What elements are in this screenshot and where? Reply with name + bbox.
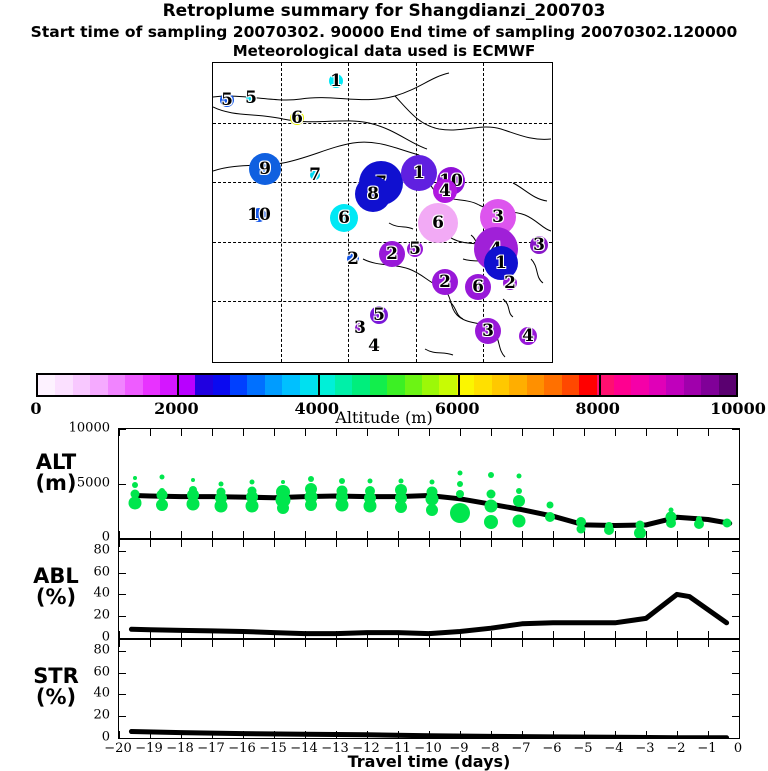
y-axis-tick-right (732, 716, 739, 717)
x-axis-tick-top (398, 640, 399, 647)
colorbar-segment (282, 375, 299, 395)
colorbar-divider (458, 375, 460, 395)
alt-scatter-bubble (308, 476, 314, 482)
coastline (395, 96, 551, 139)
alt-plot-panel[interactable] (118, 428, 740, 539)
x-axis-tick-top (708, 429, 709, 436)
alt-scatter-bubble (485, 500, 498, 513)
y-axis-tick-right (732, 694, 739, 695)
x-axis-tick-top (615, 640, 616, 647)
alt-scatter-bubble (457, 481, 463, 487)
x-axis-tick (119, 531, 120, 538)
y-axis-tick-label: 20 (93, 608, 110, 623)
colorbar-segment (230, 375, 247, 395)
y-axis-tick-right (732, 616, 739, 617)
altitude-marker-blob (418, 203, 458, 243)
x-axis-tick-top (367, 429, 368, 436)
x-axis-tick-top (305, 640, 306, 647)
altitude-marker-blob (330, 204, 358, 232)
map-gridline-vertical (416, 63, 417, 362)
alt-scatter-bubble (364, 499, 377, 512)
x-axis-tick (491, 631, 492, 638)
alt-scatter-bubble (634, 527, 646, 538)
x-axis-tick (181, 731, 182, 738)
x-axis-tick-top (429, 540, 430, 547)
x-axis-tick (336, 731, 337, 738)
alt-scatter-bubble (336, 499, 349, 512)
x-axis-tick-top (243, 640, 244, 647)
x-axis-tick-top (119, 640, 120, 647)
x-axis-tick (336, 631, 337, 638)
y-axis-tick-right (732, 429, 739, 430)
x-axis-tick-top (305, 540, 306, 547)
str-series-line (119, 640, 739, 738)
altitude-marker-blob (246, 93, 256, 103)
x-axis-tick-top (212, 640, 213, 647)
x-axis-tick-top (274, 429, 275, 436)
altitude-marker-blob (519, 327, 537, 345)
map-gridline-vertical (281, 63, 282, 362)
alt-scatter-bubble (516, 488, 522, 494)
x-axis-tick (522, 531, 523, 538)
colorbar-segment (160, 375, 177, 395)
colorbar-segment (178, 375, 195, 395)
x-axis-tick (677, 631, 678, 638)
alt-scatter-bubble (430, 479, 435, 484)
x-axis-tick (212, 531, 213, 538)
x-axis-tick (274, 531, 275, 538)
alt-scatter-bubble (512, 515, 525, 528)
x-axis-tick (429, 531, 430, 538)
alt-scatter-bubble (546, 502, 553, 509)
alt-scatter-bubble (132, 482, 138, 488)
x-axis-tick-top (615, 429, 616, 436)
x-axis-tick-top (460, 540, 461, 547)
y-axis-tick (119, 694, 126, 695)
coastline (363, 259, 441, 287)
x-axis-tick (367, 531, 368, 538)
y-axis-tick-right (732, 573, 739, 574)
x-axis-tick (243, 531, 244, 538)
x-axis-tick (181, 531, 182, 538)
y-axis-tick-label: 5000 (77, 475, 110, 490)
y-axis-tick (119, 429, 126, 430)
x-axis-tick-top (243, 429, 244, 436)
x-axis-tick-top (367, 540, 368, 547)
abl-y-labels: 020406080 (62, 539, 110, 639)
y-axis-tick (119, 673, 126, 674)
y-axis-tick (119, 616, 126, 617)
colorbar-segment (352, 375, 369, 395)
alt-scatter-bubble (516, 473, 521, 478)
colorbar-segment (405, 375, 422, 395)
colorbar-segment (125, 375, 142, 395)
x-axis-tick-top (522, 640, 523, 647)
alt-scatter-bubble (458, 471, 463, 476)
x-axis-tick-top (708, 540, 709, 547)
alt-scatter-bubble (488, 472, 494, 478)
x-axis-tick-top (646, 640, 647, 647)
x-axis-tick (460, 631, 461, 638)
x-axis-tick (708, 731, 709, 738)
x-axis-tick-top (336, 540, 337, 547)
colorbar-segment (684, 375, 701, 395)
x-axis-tick-top (677, 640, 678, 647)
x-axis-tick (615, 531, 616, 538)
x-axis-tick (305, 531, 306, 538)
colorbar-segment (317, 375, 334, 395)
x-axis-tick-top (212, 540, 213, 547)
x-axis-tick (274, 631, 275, 638)
colorbar-segment (195, 375, 212, 395)
altitude-marker-blob (407, 241, 423, 257)
alt-scatter-bubble (187, 498, 200, 511)
alt-scatter-bubble (281, 480, 285, 484)
x-axis-tick-top (584, 429, 585, 436)
alt-scatter-bubble (219, 481, 224, 486)
x-axis-tick-top (646, 429, 647, 436)
colorbar-segment (38, 375, 55, 395)
x-axis-tick-top (677, 540, 678, 547)
alt-scatter-bubble (513, 495, 525, 507)
alt-scatter-bubble (133, 476, 137, 480)
map-gridline-horizontal (213, 301, 552, 302)
colorbar-segment (649, 375, 666, 395)
x-axis-tick-top (522, 540, 523, 547)
x-axis-tick-top (243, 540, 244, 547)
x-axis-tick (522, 631, 523, 638)
x-axis-tick-top (212, 429, 213, 436)
x-axis-tick (150, 731, 151, 738)
alt-scatter-bubble (450, 503, 470, 523)
meteorology-label: Meteorological data used is ECMWF (0, 44, 768, 60)
x-axis-tick (212, 731, 213, 738)
x-axis-tick (677, 531, 678, 538)
x-axis-tick-top (181, 429, 182, 436)
altitude-marker-blob (370, 306, 388, 324)
x-axis-tick (274, 731, 275, 738)
x-axis-tick-top (429, 640, 430, 647)
altitude-marker-blob (465, 274, 491, 300)
alt-scatter-bubble (246, 499, 259, 512)
colorbar-segment (213, 375, 230, 395)
x-axis-tick (677, 731, 678, 738)
x-axis-tick (553, 631, 554, 638)
x-axis-tick-top (708, 640, 709, 647)
x-axis-tick-top (584, 640, 585, 647)
x-axis-tick (305, 631, 306, 638)
colorbar-segment (335, 375, 352, 395)
altitude-marker-blob (290, 111, 304, 125)
x-axis-tick-top (398, 429, 399, 436)
colorbar-segment (579, 375, 596, 395)
altitude-marker-blob (475, 318, 501, 344)
x-axis-tick-top (615, 540, 616, 547)
altitude-marker-blob (252, 208, 266, 222)
colorbar-segment (492, 375, 509, 395)
x-axis-tick-top (460, 429, 461, 436)
x-axis-tick-top (677, 429, 678, 436)
y-axis-tick-label: 80 (93, 542, 110, 557)
x-axis-tick (615, 731, 616, 738)
x-axis-tick (336, 531, 337, 538)
y-axis-tick-right (732, 651, 739, 652)
alt-scatter-bubble (604, 525, 614, 535)
alt-scatter-bubble (191, 478, 195, 482)
alt-scatter-bubble (339, 478, 345, 484)
x-axis-tick (553, 531, 554, 538)
x-axis-tick (212, 631, 213, 638)
x-axis-tick-top (460, 640, 461, 647)
alt-scatter-bubble (484, 515, 498, 529)
altitude-marker-blob (355, 176, 391, 212)
colorbar-segment (701, 375, 718, 395)
alt-scatter-bubble (368, 479, 373, 484)
colorbar-segment (370, 375, 387, 395)
x-axis-tick (119, 631, 120, 638)
alt-scatter-bubble (456, 490, 464, 498)
x-axis-tick (646, 731, 647, 738)
alt-scatter-bubble (487, 490, 496, 499)
x-axis-tick (181, 631, 182, 638)
colorbar-segment (666, 375, 683, 395)
coastline (425, 349, 453, 355)
x-axis-tick (491, 731, 492, 738)
alt-scatter-bubble (666, 518, 676, 528)
x-axis-tick (398, 731, 399, 738)
alt-scatter-bubble (722, 518, 731, 527)
x-axis-tick (615, 631, 616, 638)
coastline (213, 107, 427, 149)
x-axis-tick (429, 631, 430, 638)
x-axis-tick-top (119, 429, 120, 436)
x-axis-tick-top (584, 540, 585, 547)
altitude-marker-blob (484, 246, 518, 280)
y-axis-tick (119, 573, 126, 574)
altitude-marker-blob (379, 241, 405, 267)
alt-scatter-bubble (694, 519, 704, 529)
altitude-marker-blob (220, 93, 234, 107)
str-plot-panel[interactable] (118, 639, 740, 739)
alt-scatter-bubble (395, 501, 407, 513)
altitude-marker-blob (432, 269, 458, 295)
x-axis-tick (708, 631, 709, 638)
y-axis-tick-label: 40 (93, 586, 110, 601)
altitude-marker-blob (347, 253, 359, 265)
colorbar-divider (177, 375, 179, 395)
alt-mean-line (119, 429, 739, 538)
colorbar-segment (631, 375, 648, 395)
coastline (389, 223, 413, 229)
x-axis-tick-top (491, 540, 492, 547)
y-axis-tick-label: 80 (93, 642, 110, 657)
x-axis-tick-top (398, 540, 399, 547)
x-axis-tick (367, 731, 368, 738)
x-axis-tick-top (181, 640, 182, 647)
colorbar-segment (422, 375, 439, 395)
x-axis-tick (491, 531, 492, 538)
coastline (513, 183, 547, 201)
x-axis-tick-top (553, 429, 554, 436)
x-axis-tick-top (491, 640, 492, 647)
x-axis-tick (150, 631, 151, 638)
x-axis-tick (584, 631, 585, 638)
y-axis-tick-label: 10000 (69, 421, 110, 436)
x-axis-tick (398, 531, 399, 538)
x-axis-tick-top (336, 429, 337, 436)
x-axis-tick-top (150, 429, 151, 436)
x-axis-tick (305, 731, 306, 738)
x-axis-tick (243, 731, 244, 738)
abl-series-line (119, 540, 739, 638)
alt-y-labels: 0500010000 (62, 428, 110, 539)
series-line (131, 594, 726, 633)
x-axis-tick (460, 531, 461, 538)
colorbar-segment (300, 375, 317, 395)
colorbar-segment (55, 375, 72, 395)
abl-plot-panel[interactable] (118, 539, 740, 639)
y-axis-tick-right (732, 551, 739, 552)
map-gridline-horizontal (213, 123, 552, 124)
altitude-marker-blob (401, 155, 437, 191)
altitude-marker-blob (503, 276, 517, 290)
alt-scatter-bubble (250, 480, 255, 485)
y-axis-tick-label: 40 (93, 686, 110, 701)
x-axis-tick-top (119, 540, 120, 547)
y-axis-tick-label: 60 (93, 664, 110, 679)
y-axis-tick (119, 484, 126, 485)
sampling-times: Start time of sampling 20070302. 90000 E… (0, 24, 768, 40)
alt-scatter-bubble (305, 499, 317, 511)
alt-scatter-bubble (545, 512, 555, 522)
altitude-colorbar[interactable]: 0200040006000800010000 (36, 373, 738, 397)
trajectory-layer (213, 361, 551, 362)
x-axis-tick (708, 531, 709, 538)
x-axis-tick (119, 731, 120, 738)
y-axis-tick-label: 20 (93, 708, 110, 723)
x-axis-tick-top (646, 540, 647, 547)
colorbar-title: Altitude (m) (0, 408, 768, 427)
alt-scatter-bubble (128, 496, 141, 509)
colorbar-gradient (36, 373, 738, 397)
x-axis-tick-top (429, 429, 430, 436)
colorbar-segment (719, 375, 736, 395)
x-axis-tick (460, 731, 461, 738)
x-axis-tick-top (274, 640, 275, 647)
colorbar-segment (143, 375, 160, 395)
x-axis-tick (584, 731, 585, 738)
alt-scatter-bubble (277, 502, 289, 514)
alt-scatter-bubble (215, 499, 228, 512)
altitude-marker-blob (530, 236, 548, 254)
x-axis-tick (429, 731, 430, 738)
altitude-marker-blob (329, 74, 343, 88)
altitude-marker-blob (370, 342, 378, 350)
colorbar-segment (247, 375, 264, 395)
colorbar-segment (73, 375, 90, 395)
colorbar-segment (387, 375, 404, 395)
x-axis-tick-top (491, 429, 492, 436)
colorbar-segment (265, 375, 282, 395)
y-axis-tick (119, 716, 126, 717)
x-axis-tick (398, 631, 399, 638)
x-axis-tick-top (181, 540, 182, 547)
x-axis-tick (522, 731, 523, 738)
colorbar-segment (614, 375, 631, 395)
y-axis-tick (119, 594, 126, 595)
x-axis-tick-top (305, 429, 306, 436)
x-axis-tick-top (336, 640, 337, 647)
y-axis-tick (119, 651, 126, 652)
x-axis-tick-top (150, 640, 151, 647)
retroplume-map[interactable]: 1556971067811022564343122653434 (212, 62, 553, 363)
colorbar-segment (562, 375, 579, 395)
x-axis-tick (367, 631, 368, 638)
colorbar-segment (544, 375, 561, 395)
x-axis-tick (150, 531, 151, 538)
x-axis-tick-top (150, 540, 151, 547)
colorbar-divider (599, 375, 601, 395)
altitude-marker-blob (433, 179, 457, 203)
alt-scatter-bubble (156, 499, 168, 511)
colorbar-segment (509, 375, 526, 395)
altitude-marker-blob (355, 323, 365, 333)
x-axis-tick-top (553, 540, 554, 547)
colorbar-segment (108, 375, 125, 395)
x-axis-tick (646, 531, 647, 538)
x-axis-title: Travel time (days) (118, 752, 740, 771)
colorbar-segment (439, 375, 456, 395)
altitude-marker-blob (310, 170, 320, 180)
altitude-marker-blob (249, 153, 281, 185)
str-y-labels: 020406080 (62, 639, 110, 739)
alt-scatter-bubble (160, 474, 165, 479)
alt-scatter-bubble (426, 504, 438, 516)
x-axis-tick-top (367, 640, 368, 647)
x-axis-tick-top (274, 540, 275, 547)
colorbar-divider (318, 375, 320, 395)
x-axis-tick (553, 731, 554, 738)
x-axis-tick-top (553, 640, 554, 647)
alt-scatter-bubble (576, 525, 585, 534)
coastline (531, 259, 543, 283)
y-axis-tick-right (732, 484, 739, 485)
y-axis-tick (119, 551, 126, 552)
y-axis-tick-right (732, 594, 739, 595)
y-axis-tick-right (732, 673, 739, 674)
page-title: Retroplume summary for Shangdianzi_20070… (0, 3, 768, 21)
x-axis-tick (646, 631, 647, 638)
colorbar-segment (474, 375, 491, 395)
y-axis-tick-label: 60 (93, 564, 110, 579)
colorbar-segment (527, 375, 544, 395)
colorbar-segment (90, 375, 107, 395)
x-axis-tick (243, 631, 244, 638)
x-axis-tick-top (522, 429, 523, 436)
